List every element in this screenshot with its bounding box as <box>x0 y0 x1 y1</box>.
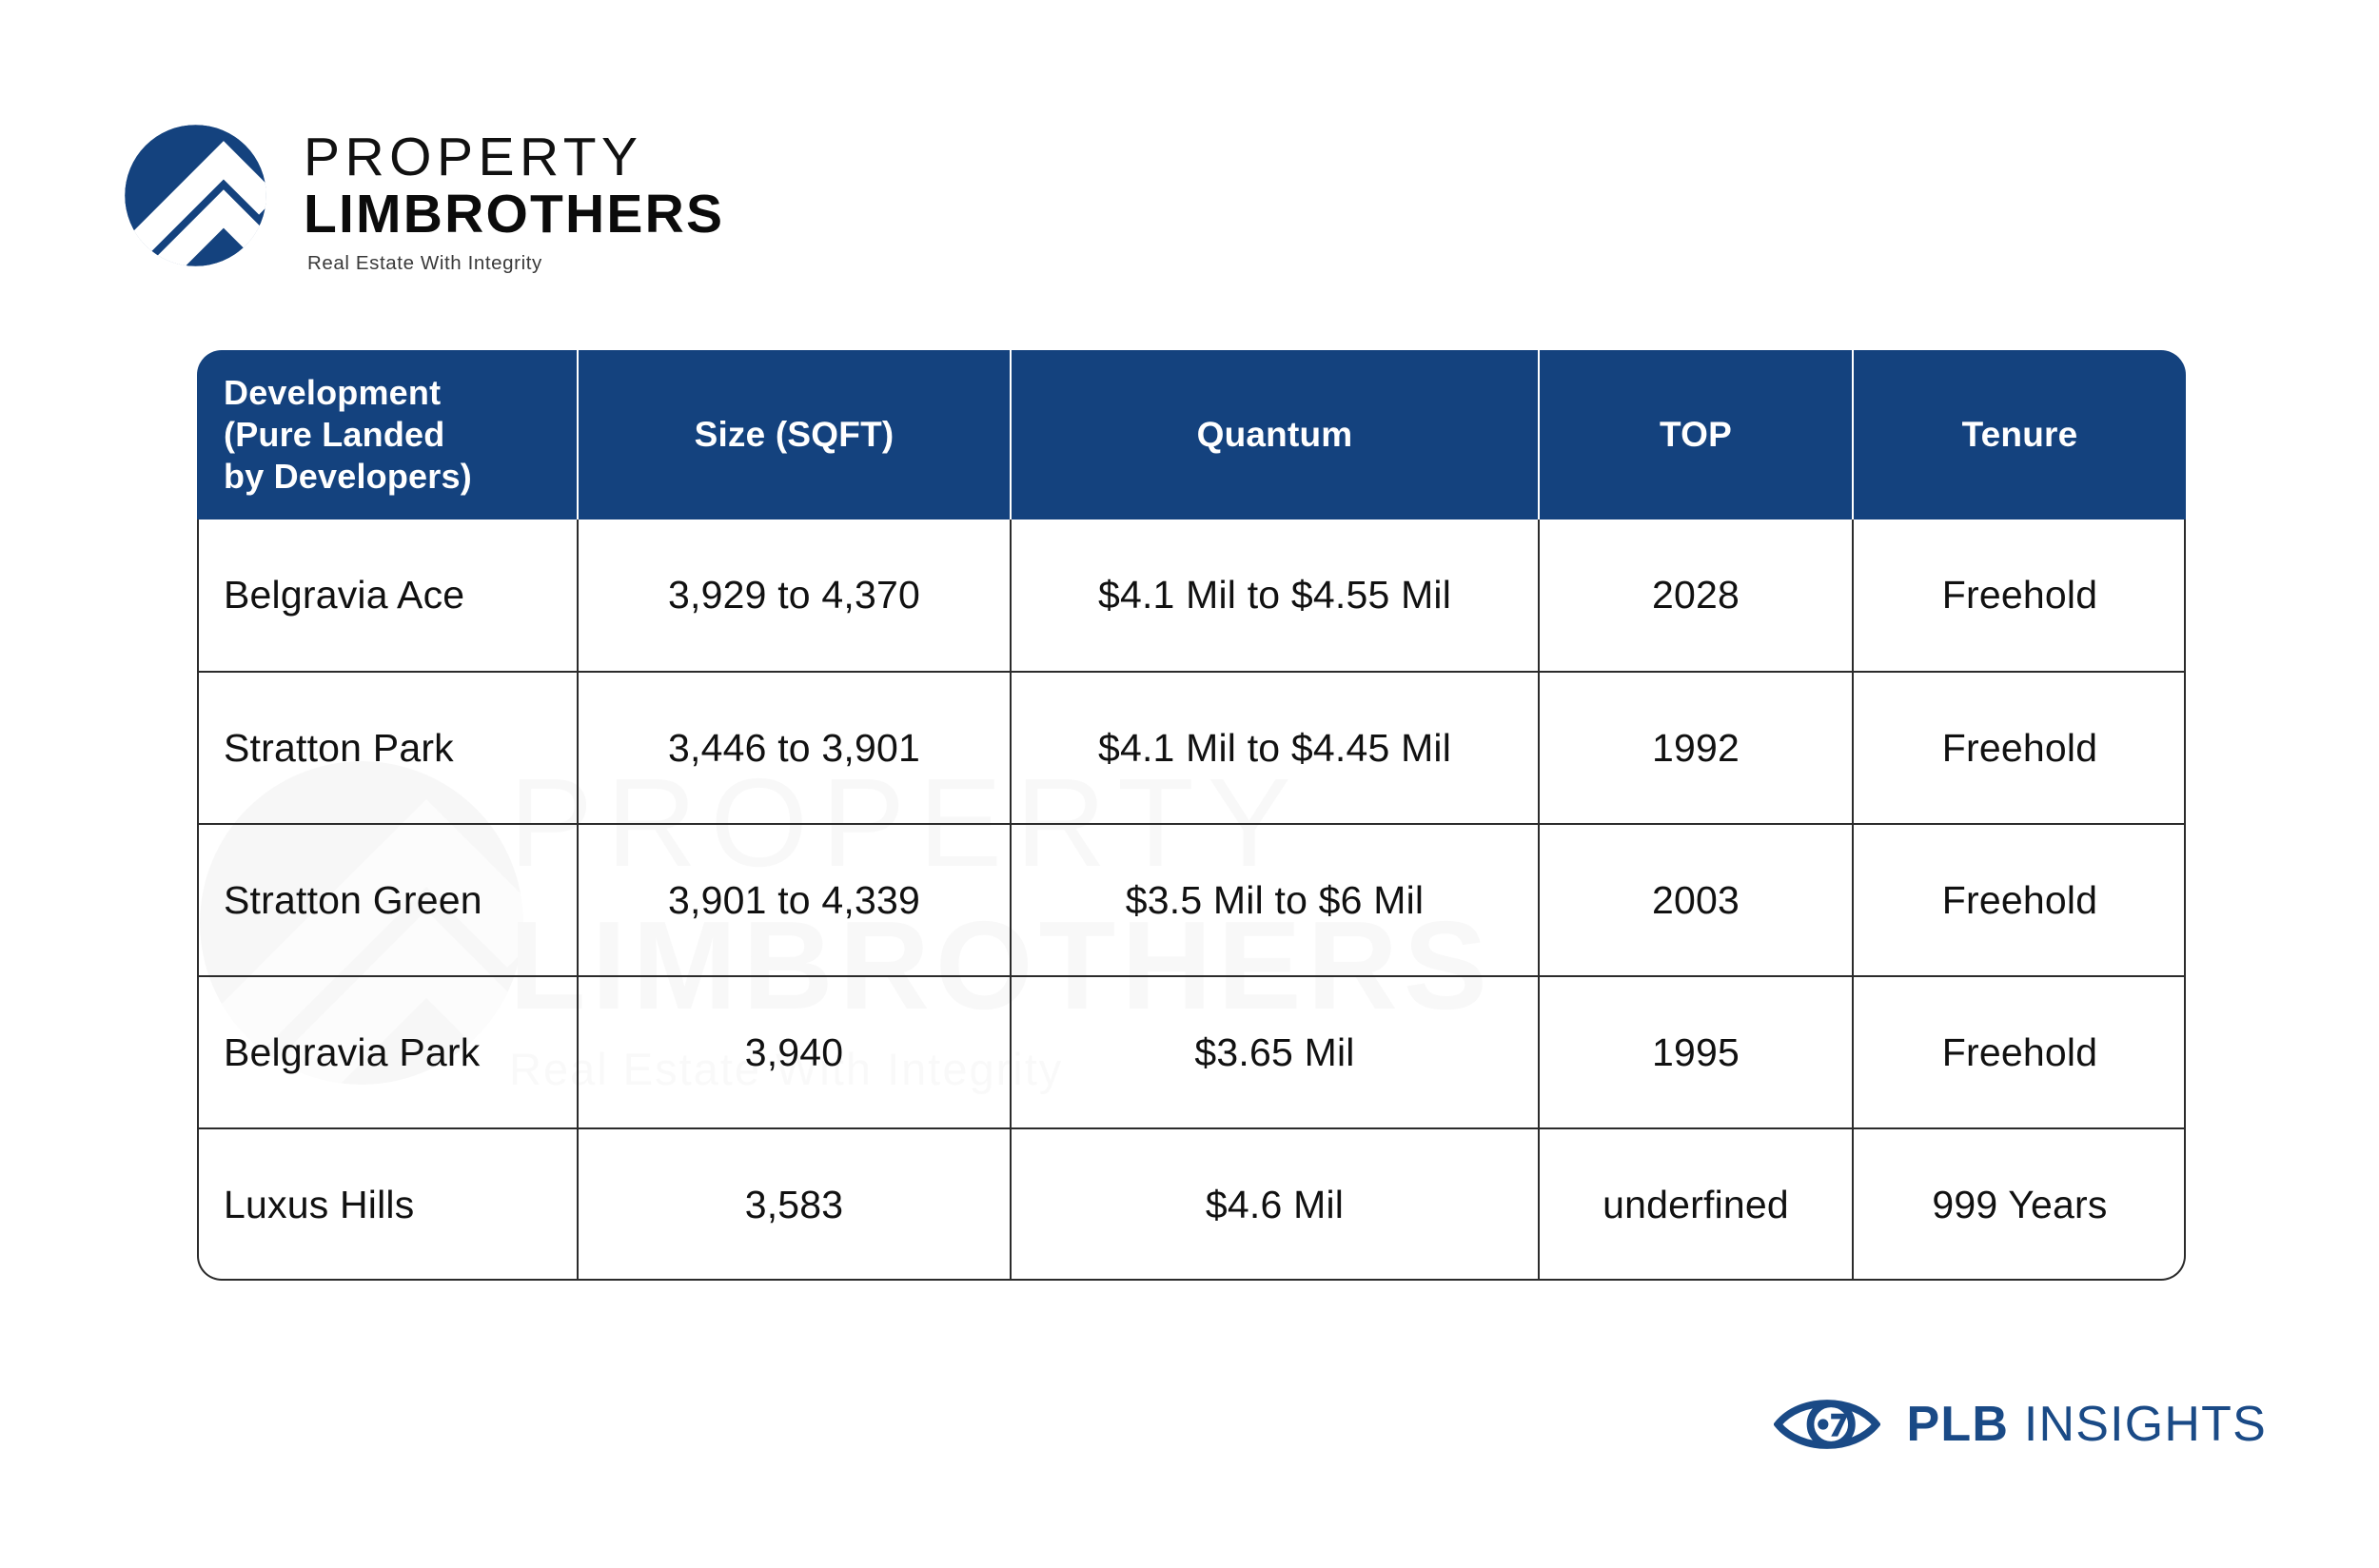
table-row: Belgravia Ace 3,929 to 4,370 $4.1 Mil to… <box>197 519 2186 672</box>
brand-header: PROPERTY LIMBROTHERS Real Estate With In… <box>122 122 724 275</box>
table-row: Belgravia Park 3,940 $3.65 Mil 1995 Free… <box>197 976 2186 1128</box>
column-header-development-line3: by Developers) <box>224 456 567 498</box>
column-header-development: Development (Pure Landed by Developers) <box>197 350 578 519</box>
cell-tenure: Freehold <box>1853 519 2186 672</box>
cell-tenure: Freehold <box>1853 672 2186 824</box>
brand-line-limbrothers: LIMBROTHERS <box>304 186 724 242</box>
column-header-development-line2: (Pure Landed <box>224 414 567 456</box>
comparison-table: Development (Pure Landed by Developers) … <box>197 350 2186 1281</box>
cell-tenure: Freehold <box>1853 976 2186 1128</box>
column-header-quantum: Quantum <box>1011 350 1539 519</box>
cell-top: 1995 <box>1539 976 1853 1128</box>
plb-eye-icon <box>1774 1391 1880 1458</box>
cell-size: 3,583 <box>578 1128 1011 1281</box>
cell-size: 3,446 to 3,901 <box>578 672 1011 824</box>
cell-size: 3,901 to 4,339 <box>578 824 1011 976</box>
cell-tenure: Freehold <box>1853 824 2186 976</box>
cell-development: Luxus Hills <box>197 1128 578 1281</box>
cell-size: 3,940 <box>578 976 1011 1128</box>
cell-tenure: 999 Years <box>1853 1128 2186 1281</box>
cell-top: underfined <box>1539 1128 1853 1281</box>
cell-quantum: $4.6 Mil <box>1011 1128 1539 1281</box>
table-row: Stratton Green 3,901 to 4,339 $3.5 Mil t… <box>197 824 2186 976</box>
cell-top: 1992 <box>1539 672 1853 824</box>
brand-tagline: Real Estate With Integrity <box>307 252 724 275</box>
page-root: PROPERTY LIMBROTHERS Real Estate With In… <box>0 0 2379 1568</box>
cell-development: Belgravia Park <box>197 976 578 1128</box>
cell-quantum: $4.1 Mil to $4.55 Mil <box>1011 519 1539 672</box>
brand-line-property: PROPERTY <box>304 129 724 185</box>
table-row: Luxus Hills 3,583 $4.6 Mil underfined 99… <box>197 1128 2186 1281</box>
column-header-top: TOP <box>1539 350 1853 519</box>
cell-development: Stratton Green <box>197 824 578 976</box>
cell-quantum: $3.5 Mil to $6 Mil <box>1011 824 1539 976</box>
column-header-development-line1: Development <box>224 372 567 414</box>
cell-size: 3,929 to 4,370 <box>578 519 1011 672</box>
cell-quantum: $4.1 Mil to $4.45 Mil <box>1011 672 1539 824</box>
column-header-tenure: Tenure <box>1853 350 2186 519</box>
cell-top: 2028 <box>1539 519 1853 672</box>
plb-brand-bold: PLB <box>1907 1397 2010 1452</box>
plb-insights-wordmark: PLB INSIGHTS <box>1907 1396 2267 1453</box>
cell-quantum: $3.65 Mil <box>1011 976 1539 1128</box>
cell-development: Belgravia Ace <box>197 519 578 672</box>
cell-top: 2003 <box>1539 824 1853 976</box>
plb-brand-light: INSIGHTS <box>2024 1397 2267 1452</box>
brand-wordmark: PROPERTY LIMBROTHERS Real Estate With In… <box>304 122 724 275</box>
column-header-size: Size (SQFT) <box>578 350 1011 519</box>
table-row: Stratton Park 3,446 to 3,901 $4.1 Mil to… <box>197 672 2186 824</box>
cell-development: Stratton Park <box>197 672 578 824</box>
propertylimbrothers-chevron-circle-logo-icon <box>122 122 269 269</box>
table-header-row: Development (Pure Landed by Developers) … <box>197 350 2186 519</box>
plb-insights-logo: PLB INSIGHTS <box>1774 1391 2267 1458</box>
